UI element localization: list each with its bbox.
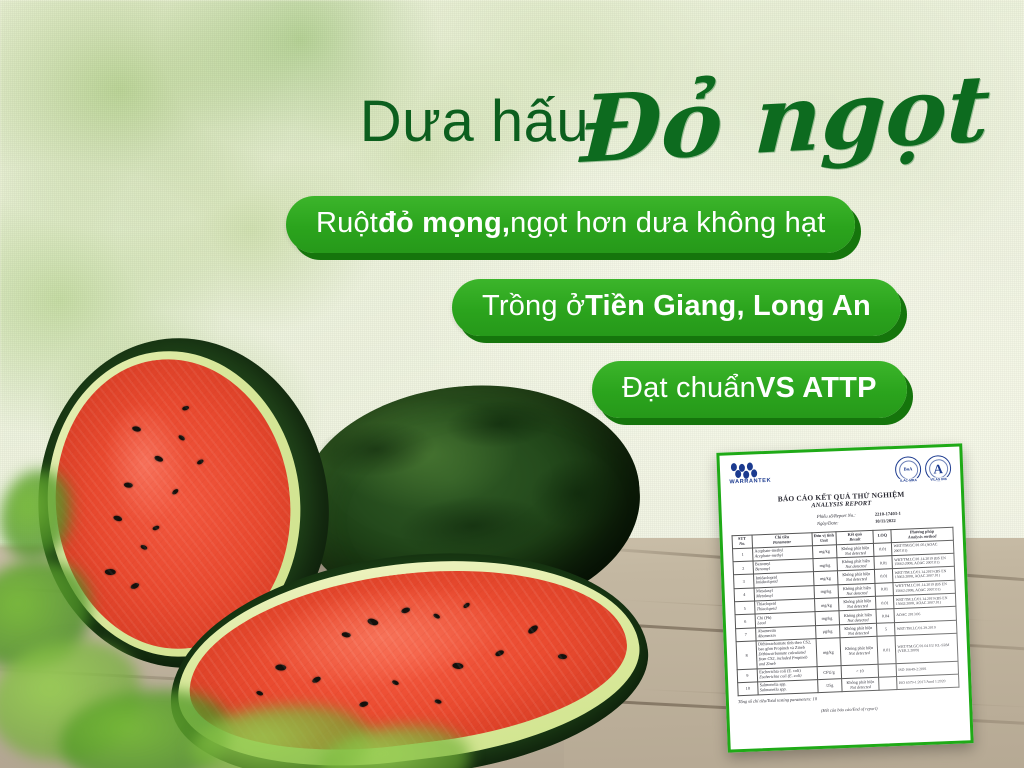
cell-unit: mg/kg: [816, 638, 841, 666]
feature-pill-2-body[interactable]: Trồng ở Tiền Giang, Long An: [452, 279, 901, 336]
col-no: STT No.: [732, 535, 752, 549]
pill-1-post: ngọt hơn dưa không hạt: [510, 207, 825, 240]
pill-2-pre: Trồng ở: [482, 290, 585, 323]
watermelon-seed: [124, 482, 133, 488]
watermelon-seed: [434, 699, 442, 704]
page-title: Dưa hấu Đỏ ngọt: [330, 62, 990, 182]
cell-unit: mg/kg: [815, 611, 840, 625]
col-unit-en: Unit: [814, 538, 834, 544]
cell-loq: 0.01: [875, 569, 893, 583]
cell-loq: 0.01: [874, 556, 892, 570]
watermelon-seed: [256, 690, 264, 696]
cell-unit: mg/kg: [813, 558, 838, 572]
cell-no: 2: [733, 561, 753, 575]
results-table-body: 1Acephate-methylAcephate-methylmg/kgKhôn…: [733, 540, 960, 696]
boa-ilac-seal-label: ILAC-MRA: [899, 478, 918, 483]
watermelon-seed: [152, 525, 160, 531]
watermelon-seed: [401, 607, 411, 615]
cell-unit: mg/kg: [814, 584, 839, 598]
report-no-value: 2210-17403-1: [875, 511, 901, 517]
cell-loq: 5: [877, 622, 895, 636]
headline-script: Đỏ ngọt: [579, 67, 992, 172]
cell-method: WRT/TM.GC/01.04 EU RL-SRM (VER.2.2009): [895, 633, 958, 663]
cell-method: ISO 6579-1:2017/Amd 1:2020: [897, 674, 959, 690]
watermelon-seed: [154, 454, 164, 462]
watermelon-seed: [452, 662, 464, 669]
pill-1-strong: đỏ mọng,: [378, 207, 510, 240]
watermelon-seed: [367, 617, 379, 626]
cell-no: 5: [735, 601, 755, 615]
cell-parameter: Salmonella spp.Salmonella spp.: [758, 679, 818, 695]
certificate-meta: Phiếu số/Report No.: 2210-17403-1 Ngày/D…: [731, 509, 953, 529]
cell-unit: mg/kg: [813, 571, 838, 585]
cell-loq: [878, 663, 896, 677]
pill-1-pre: Ruột: [316, 207, 378, 240]
pill-3-strong: VS ATTP: [756, 372, 877, 405]
certificate-header: WARRANTEK BoA ILAC-MRA A VILAS 806: [729, 455, 952, 490]
cell-unit: µg/kg: [815, 625, 840, 639]
cell-no: 7: [736, 628, 756, 642]
watermelon-seed: [139, 544, 147, 551]
vilas-seal: A VILAS 806: [925, 455, 952, 482]
cell-unit: CFU/g: [817, 665, 842, 679]
col-loq-vi: LOQ: [878, 532, 887, 537]
report-date-label: Ngày/Date:: [817, 518, 875, 525]
analysis-report-certificate[interactable]: WARRANTEK BoA ILAC-MRA A VILAS 806 BÁO C…: [716, 443, 973, 752]
report-date-value: 10/11/2022: [875, 517, 896, 523]
watermelon-seed: [105, 569, 116, 575]
cell-unit: /25g: [817, 678, 842, 692]
feature-pill-3[interactable]: Đạt chuẩn VS ATTP: [592, 361, 907, 418]
end-of-report-label: (Hết của báo cáo/End of report): [738, 703, 960, 717]
cell-result: Không phát hiệnNot detected: [841, 677, 879, 692]
boa-ilac-seal: BoA ILAC-MRA: [895, 456, 922, 483]
watermelon-seed: [342, 632, 352, 638]
cell-loq: 0.01: [876, 596, 894, 610]
cell-no: 10: [738, 682, 758, 696]
certificate-title: BÁO CÁO KẾT QUẢ THỬ NGHIỆM ANALYSIS REPO…: [730, 488, 952, 513]
col-unit: Đơn vị tính Unit: [811, 531, 836, 545]
cell-parameter: Dithiocarbamate tính theo CS2, bao gồm P…: [756, 639, 817, 669]
headline-plain: Dưa hấu: [360, 93, 589, 151]
cell-loq: 0.04: [876, 609, 894, 623]
cell-loq: [879, 676, 897, 690]
watermelon-seed: [359, 701, 369, 708]
logo-dots-icon: [729, 462, 776, 479]
cell-no: 8: [736, 641, 757, 669]
watermelon-seed: [129, 582, 139, 590]
col-loq: LOQ: [873, 529, 891, 543]
watermelon-seed: [196, 459, 204, 466]
watermelon-seed: [132, 425, 142, 432]
watermelon-seed: [171, 488, 179, 495]
promo-banner: Dưa hấu Đỏ ngọt Ruột đỏ mọng, ngọt hơn d…: [0, 0, 1024, 768]
watermelon-seed: [113, 515, 123, 522]
watermelon-seed: [392, 680, 400, 686]
watermelon-seed: [177, 434, 185, 441]
watermelon-seed: [181, 406, 189, 412]
watermelon-seed: [462, 602, 470, 609]
watermelon-seed: [275, 664, 286, 671]
warrantek-logo-text: WARRANTEK: [729, 478, 775, 486]
pill-2-strong: Tiền Giang, Long An: [585, 290, 871, 323]
pill-3-pre: Đạt chuẩn: [622, 372, 756, 405]
cell-loq: 0.01: [874, 542, 892, 556]
feature-pill-1[interactable]: Ruột đỏ mọng, ngọt hơn dưa không hạt: [286, 196, 855, 253]
watermelon-seed: [527, 624, 539, 635]
watermelon-seed: [557, 653, 566, 659]
results-table: STT No. Chỉ tiêu Parameter Đơn vị tính U…: [731, 526, 959, 696]
warrantek-logo: WARRANTEK: [729, 462, 776, 486]
cell-result: Không phát hiệnNot detected: [840, 636, 879, 665]
cell-no: 1: [733, 548, 753, 562]
col-result-en: Result: [838, 536, 872, 542]
col-no-en: No.: [734, 541, 750, 546]
rind-stripe: [443, 396, 556, 452]
vilas-seal-text: A: [933, 462, 943, 475]
cell-loq: 0.01: [877, 636, 896, 664]
cell-unit: mg/kg: [812, 544, 837, 558]
cell-loq: 0.01: [875, 582, 893, 596]
vilas-seal-label: VILAS 806: [929, 477, 948, 482]
feature-pill-2[interactable]: Trồng ở Tiền Giang, Long An: [452, 279, 901, 336]
cell-no: 9: [737, 669, 757, 683]
watermelon-seed: [312, 675, 322, 684]
feature-pill-3-body[interactable]: Đạt chuẩn VS ATTP: [592, 361, 907, 418]
cell-no: 3: [734, 574, 754, 588]
cell-no: 6: [735, 614, 755, 628]
cell-unit: mg/kg: [814, 598, 839, 612]
accreditation-seals: BoA ILAC-MRA A VILAS 806: [895, 455, 952, 483]
watermelon-seed: [495, 650, 505, 658]
feature-pill-1-body[interactable]: Ruột đỏ mọng, ngọt hơn dưa không hạt: [286, 196, 855, 253]
boa-ilac-seal-text: BoA: [904, 467, 913, 472]
watermelon-seed: [432, 613, 440, 620]
cell-no: 4: [734, 588, 754, 602]
